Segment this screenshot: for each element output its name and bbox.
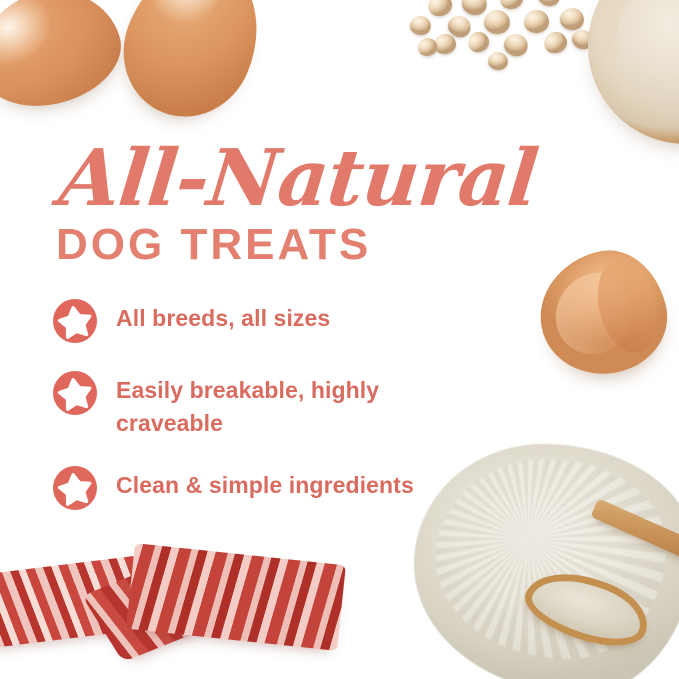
star-badge-icon <box>52 370 98 416</box>
feature-item: Clean & simple ingredients <box>52 463 472 511</box>
bacon-strips-image <box>0 552 342 664</box>
headline-sub-line: DOG TREATS <box>56 220 616 270</box>
star-badge-icon <box>52 465 98 511</box>
product-feature-graphic: All-Natural DOG TREATS All breeds, all s… <box>0 0 679 679</box>
feature-label: All breeds, all sizes <box>116 296 330 335</box>
star-badge-icon <box>52 298 98 344</box>
chickpeas-pile-image <box>404 0 594 84</box>
feature-item: All breeds, all sizes <box>52 296 472 344</box>
feature-list: All breeds, all sizes Easily breakable, … <box>52 296 472 511</box>
egg-top-left-image <box>0 0 133 121</box>
egg-top-center-image <box>103 0 281 136</box>
headline-block: All-Natural DOG TREATS <box>56 142 616 270</box>
feature-label: Clean & simple ingredients <box>116 463 414 502</box>
flour-bowl-image <box>588 0 679 144</box>
feature-label: Easily breakable, highly craveable <box>116 368 472 439</box>
headline-script-line: All-Natural <box>56 142 624 216</box>
feature-item: Easily breakable, highly craveable <box>52 368 472 439</box>
